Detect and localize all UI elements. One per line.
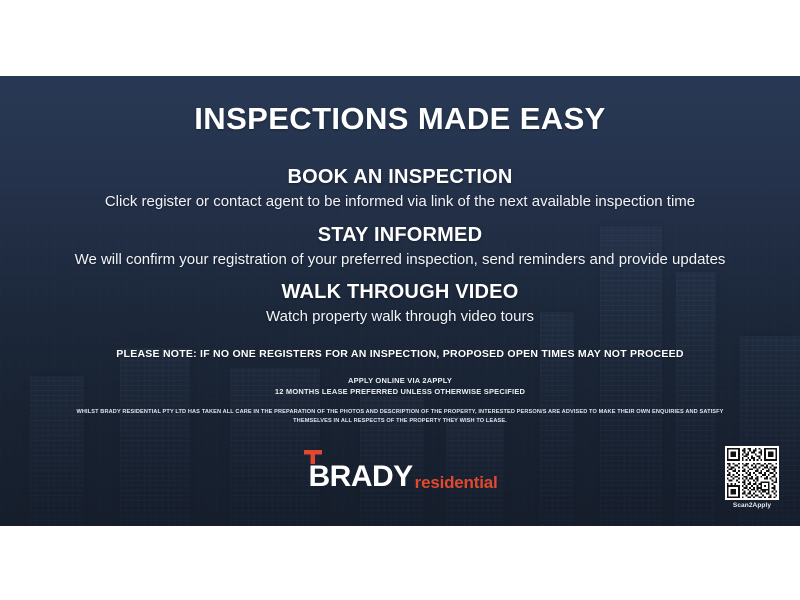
brady-mark-icon: [304, 450, 322, 464]
section-heading: BOOK AN INSPECTION: [0, 166, 800, 189]
section-heading: WALK THROUGH VIDEO: [0, 281, 800, 304]
logo-primary-text: BRADY: [302, 462, 412, 492]
section-walk-through-video: WALK THROUGH VIDEO Watch property walk t…: [0, 281, 800, 325]
section-book-an-inspection: BOOK AN INSPECTION Click register or con…: [0, 166, 800, 210]
logo-lockup: BRADY residential: [302, 462, 497, 492]
please-note-text: PLEASE NOTE: IF NO ONE REGISTERS FOR AN …: [0, 348, 800, 360]
lease-term-line: 12 MONTHS LEASE PREFERRED UNLESS OTHERWI…: [0, 386, 800, 397]
banner-content: INSPECTIONS MADE EASY BOOK AN INSPECTION…: [0, 76, 800, 526]
brady-residential-logo: BRADY residential: [0, 462, 800, 502]
logo-secondary-text: residential: [413, 474, 498, 492]
section-stay-informed: STAY INFORMED We will confirm your regis…: [0, 224, 800, 268]
apply-online-line: APPLY ONLINE VIA 2APPLY: [0, 375, 800, 386]
page-title: INSPECTIONS MADE EASY: [0, 101, 800, 137]
section-subtext: Click register or contact agent to be in…: [0, 193, 800, 210]
section-subtext: Watch property walk through video tours: [0, 308, 800, 325]
scan-to-apply-block[interactable]: Scan2Apply: [722, 446, 782, 509]
qr-code-label: Scan2Apply: [722, 502, 782, 509]
section-subtext: We will confirm your registration of you…: [0, 251, 800, 268]
qr-code-icon[interactable]: [725, 446, 779, 500]
section-heading: STAY INFORMED: [0, 224, 800, 247]
page-root: INSPECTIONS MADE EASY BOOK AN INSPECTION…: [0, 0, 800, 600]
inspections-banner: INSPECTIONS MADE EASY BOOK AN INSPECTION…: [0, 76, 800, 526]
legal-disclaimer-text: WHILST BRADY RESIDENTIAL PTY LTD HAS TAK…: [60, 408, 740, 426]
apply-info-block: APPLY ONLINE VIA 2APPLY 12 MONTHS LEASE …: [0, 375, 800, 397]
